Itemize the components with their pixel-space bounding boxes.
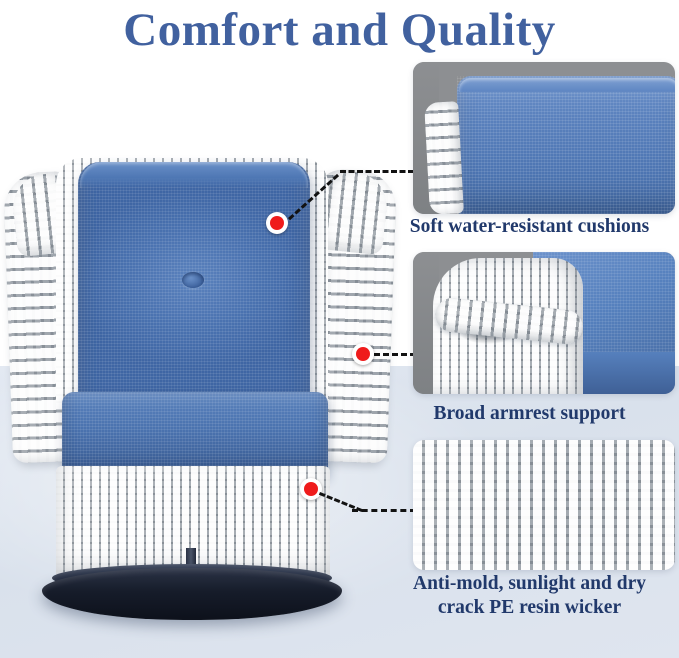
marker-armrest-dot[interactable] xyxy=(352,343,374,365)
detail-panel-armrest[interactable] xyxy=(413,252,675,394)
chair-cushion-button-tuft xyxy=(182,272,204,288)
hero-product-image xyxy=(0,62,400,582)
marker-dot-fill xyxy=(356,347,370,361)
caption-armrest: Broad armrest support xyxy=(380,402,679,425)
connector-wicker-horizontal xyxy=(352,509,416,512)
detail-panel-wicker[interactable] xyxy=(413,440,675,570)
connector-cushion-horizontal xyxy=(340,170,414,173)
infographic-canvas: Comfort and Quality Soft water xyxy=(0,0,679,658)
marker-dot-fill xyxy=(304,482,318,496)
caption-wicker-line1: Anti-mold, sunlight and dry xyxy=(413,573,646,594)
caption-wicker: Anti-mold, sunlight and dry crack PE res… xyxy=(380,572,679,620)
page-title: Comfort and Quality xyxy=(0,2,679,58)
chair-back-cushion xyxy=(78,162,310,422)
caption-wicker-line2: crack PE resin wicker xyxy=(438,597,621,618)
caption-cushions: Soft water-resistant cushions xyxy=(380,215,679,238)
marker-dot-fill xyxy=(270,216,284,230)
panel-wicker-swatch xyxy=(413,440,675,570)
marker-cushion-dot[interactable] xyxy=(266,212,288,234)
chair-back-cushion-piping xyxy=(80,162,308,188)
detail-panel-cushions[interactable] xyxy=(413,62,675,214)
marker-wicker-dot[interactable] xyxy=(300,478,322,500)
connector-armrest-horizontal xyxy=(374,353,416,356)
panel-wicker-edge xyxy=(424,101,464,214)
panel-cushion-piping xyxy=(459,78,675,92)
panel-cushion-body xyxy=(457,76,675,214)
